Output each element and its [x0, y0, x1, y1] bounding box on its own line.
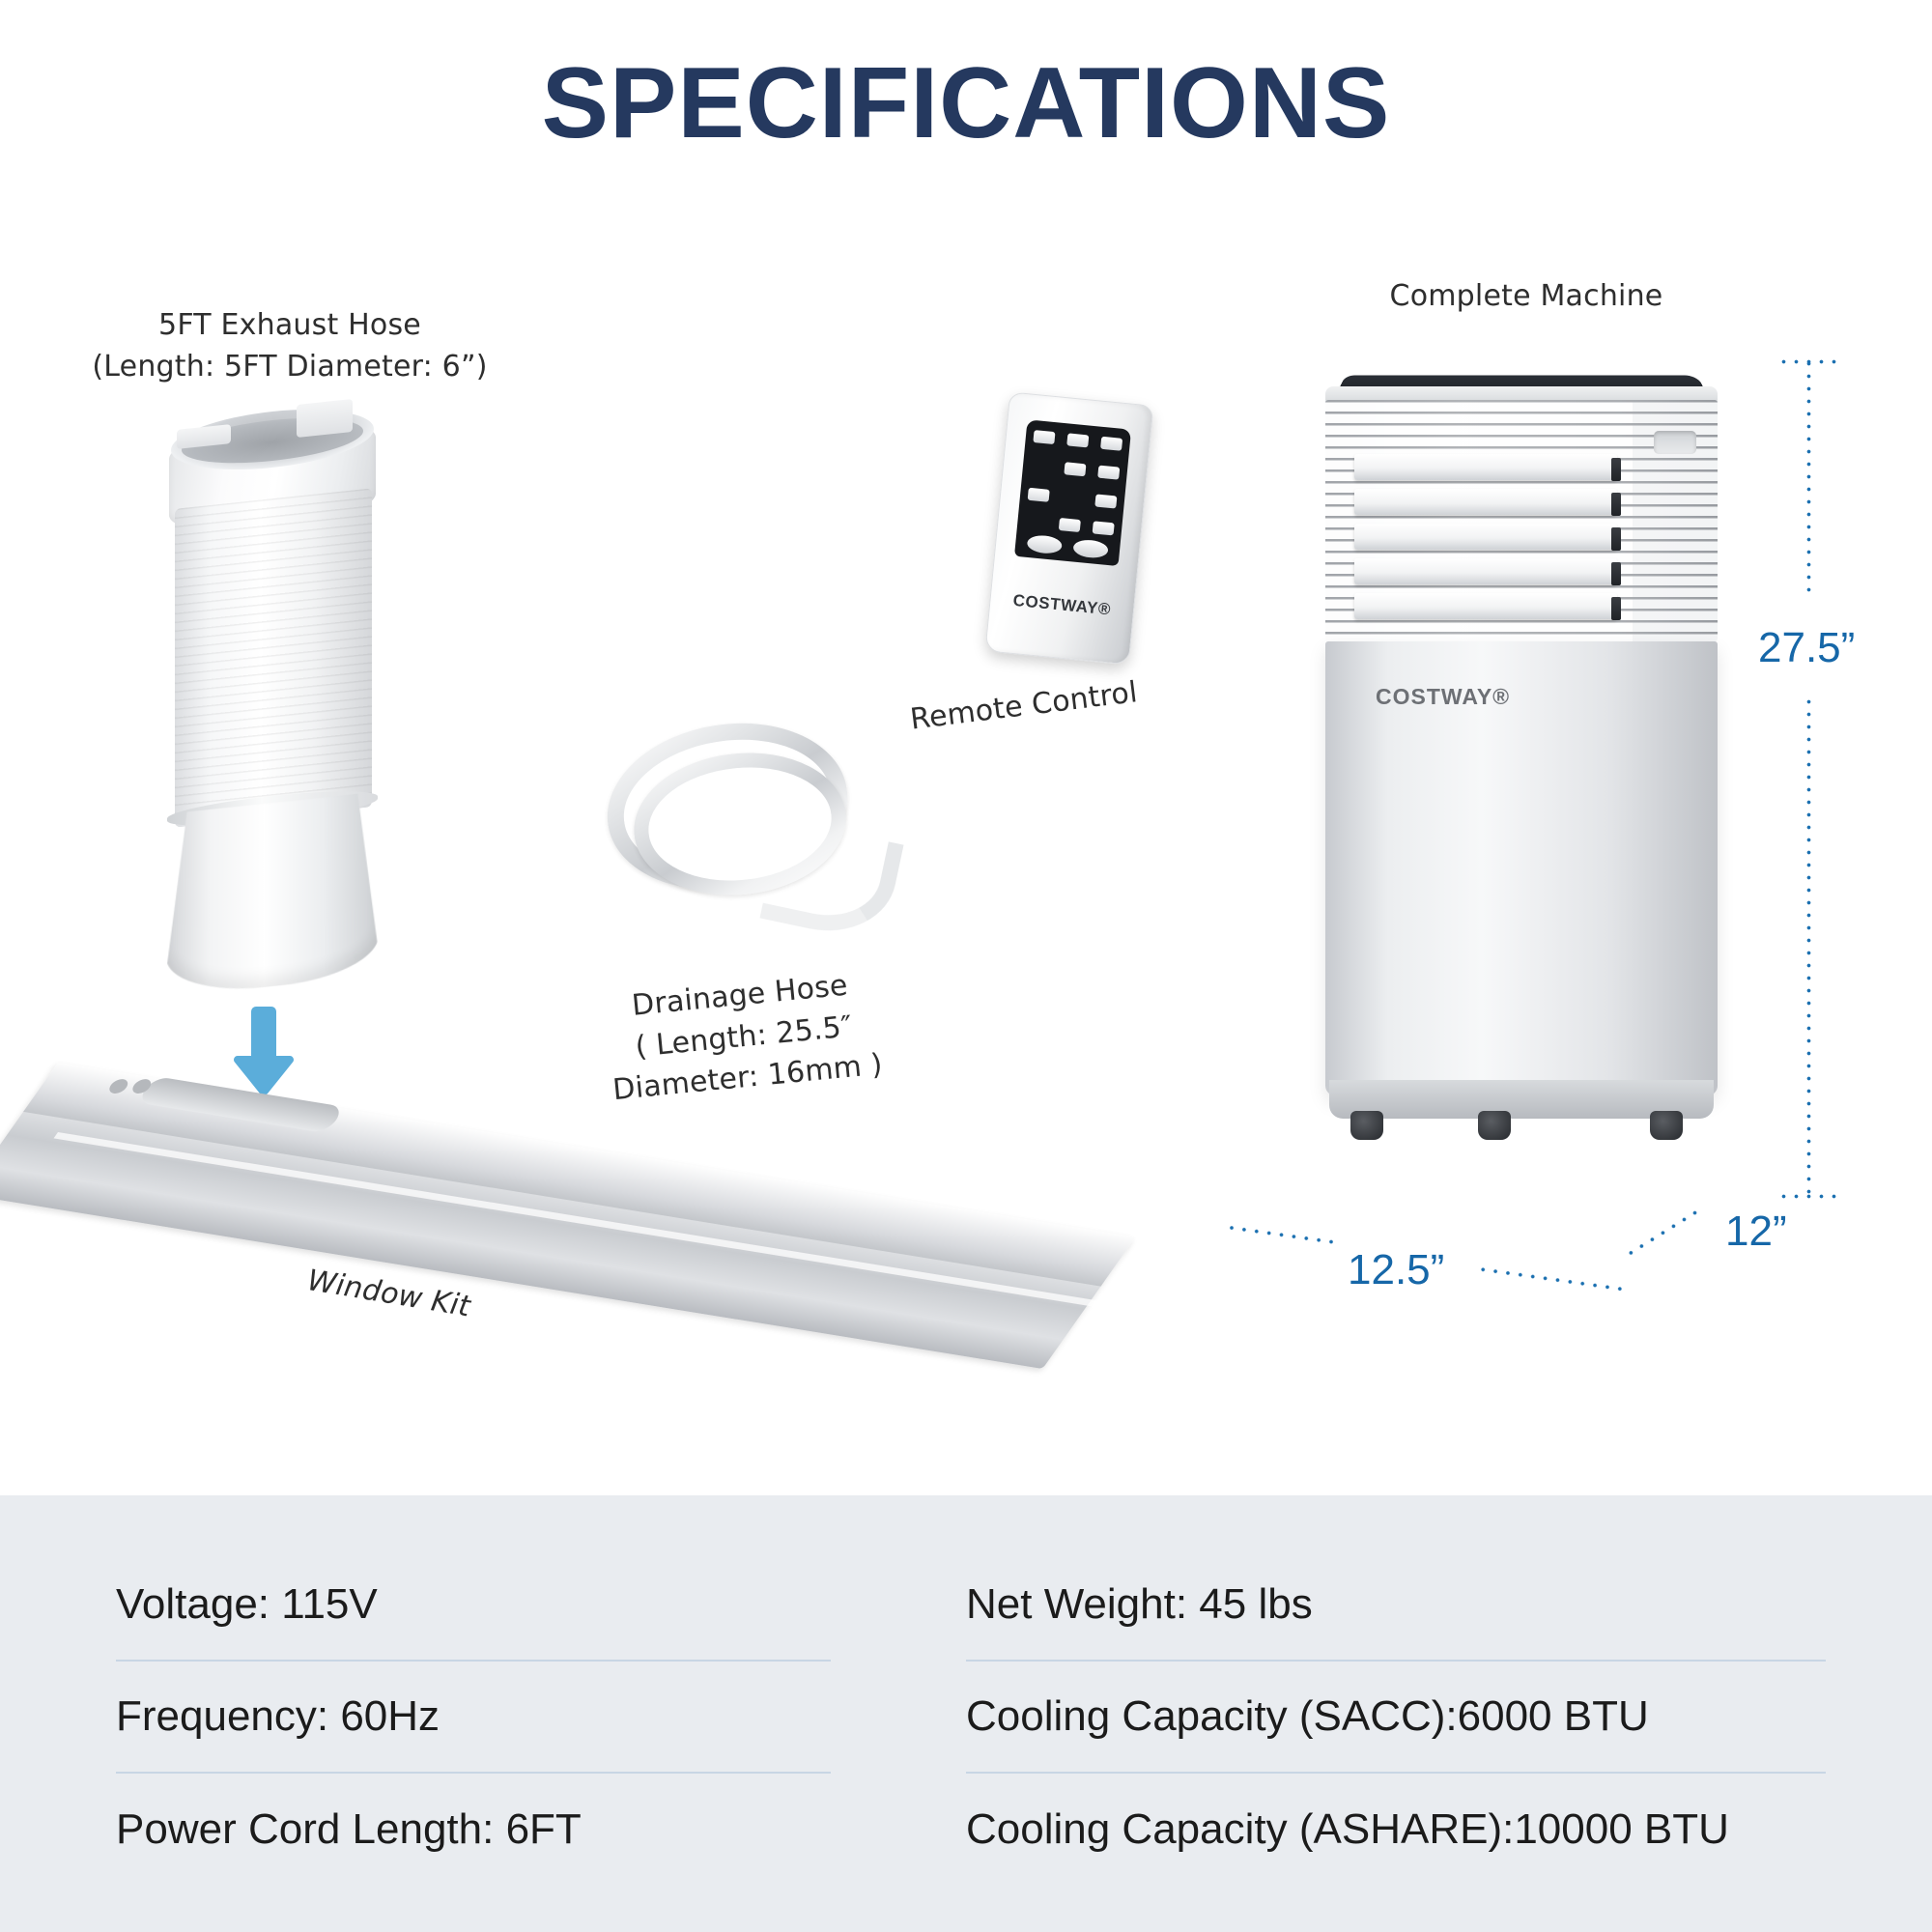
specs-column-right: Net Weight: 45 lbs Cooling Capacity (SAC… — [966, 1549, 1826, 1886]
air-conditioner-image: COSTWAY® — [1314, 359, 1739, 1200]
remote-body: COSTWAY® — [984, 391, 1153, 665]
exhaust-hose-image — [169, 406, 391, 1014]
depth-dimension-line-a — [1476, 1263, 1631, 1296]
remote-button-sleep — [1059, 518, 1081, 532]
hose-bell-end — [166, 792, 379, 998]
remote-control-label: Remote Control — [908, 663, 1220, 741]
unit-louvre-group — [1354, 454, 1625, 618]
remote-brand-logo: COSTWAY® — [990, 589, 1134, 622]
remote-button-cool — [1100, 437, 1122, 451]
spec-row: Cooling Capacity (ASHARE):10000 BTU — [966, 1774, 1826, 1886]
height-dimension-line-bottom — [1803, 696, 1815, 1198]
unit-louvre — [1354, 454, 1617, 480]
unit-louvre — [1354, 593, 1617, 619]
remote-button-down — [1064, 462, 1086, 476]
page-title: SPECIFICATIONS — [0, 46, 1932, 161]
remote-keypad — [1014, 419, 1131, 566]
drainage-hose-image — [599, 715, 908, 956]
unit-louvre — [1354, 489, 1617, 515]
unit-caster — [1350, 1111, 1383, 1140]
height-dimension-line-top — [1803, 357, 1815, 599]
height-tick-bottom — [1777, 1190, 1839, 1203]
unit-louvre — [1354, 524, 1617, 550]
remote-button-timer — [1027, 534, 1064, 554]
width-dimension-line — [1225, 1221, 1342, 1250]
remote-button-high — [1033, 430, 1055, 444]
spec-row: Voltage: 115V — [116, 1549, 831, 1662]
drain-hose-tail — [760, 819, 904, 945]
unit-louvre — [1354, 558, 1617, 584]
width-dimension-label: 12.5” — [1348, 1246, 1444, 1294]
depth-dimension-line-b — [1622, 1205, 1702, 1262]
height-dimension-label: 27.5” — [1758, 624, 1855, 672]
remote-control-image: COSTWAY® — [984, 391, 1153, 665]
exhaust-hose-label: 5FT Exhaust Hose (Length: 5FT Diameter: … — [77, 305, 502, 387]
remote-button-fc — [1093, 521, 1115, 535]
unit-handle — [1654, 431, 1696, 454]
spec-row: Cooling Capacity (SACC):6000 BTU — [966, 1662, 1826, 1774]
unit-caster — [1650, 1111, 1683, 1140]
depth-dimension-label: 12” — [1725, 1207, 1787, 1256]
remote-button-dry — [1097, 466, 1120, 480]
specs-panel: Voltage: 115V Frequency: 60Hz Power Cord… — [0, 1495, 1932, 1932]
remote-button-fan — [1094, 494, 1117, 508]
specs-column-left: Voltage: 115V Frequency: 60Hz Power Cord… — [116, 1549, 831, 1886]
complete-machine-label: Complete Machine — [1362, 276, 1690, 318]
remote-button-up — [1066, 433, 1089, 447]
height-tick-top — [1777, 355, 1839, 368]
spec-row: Net Weight: 45 lbs — [966, 1549, 1826, 1662]
remote-button-lock — [1028, 488, 1050, 502]
hose-tab-right — [297, 399, 353, 438]
spec-row: Power Cord Length: 6FT — [116, 1774, 831, 1886]
remote-button-power — [1072, 539, 1109, 559]
specification-sheet: SPECIFICATIONS 5FT Exhaust Hose (Length:… — [0, 0, 1932, 1932]
hose-corrugated-tube — [175, 488, 372, 827]
unit-caster — [1478, 1111, 1511, 1140]
unit-brand-logo: COSTWAY® — [1376, 684, 1510, 710]
spec-row: Frequency: 60Hz — [116, 1662, 831, 1774]
